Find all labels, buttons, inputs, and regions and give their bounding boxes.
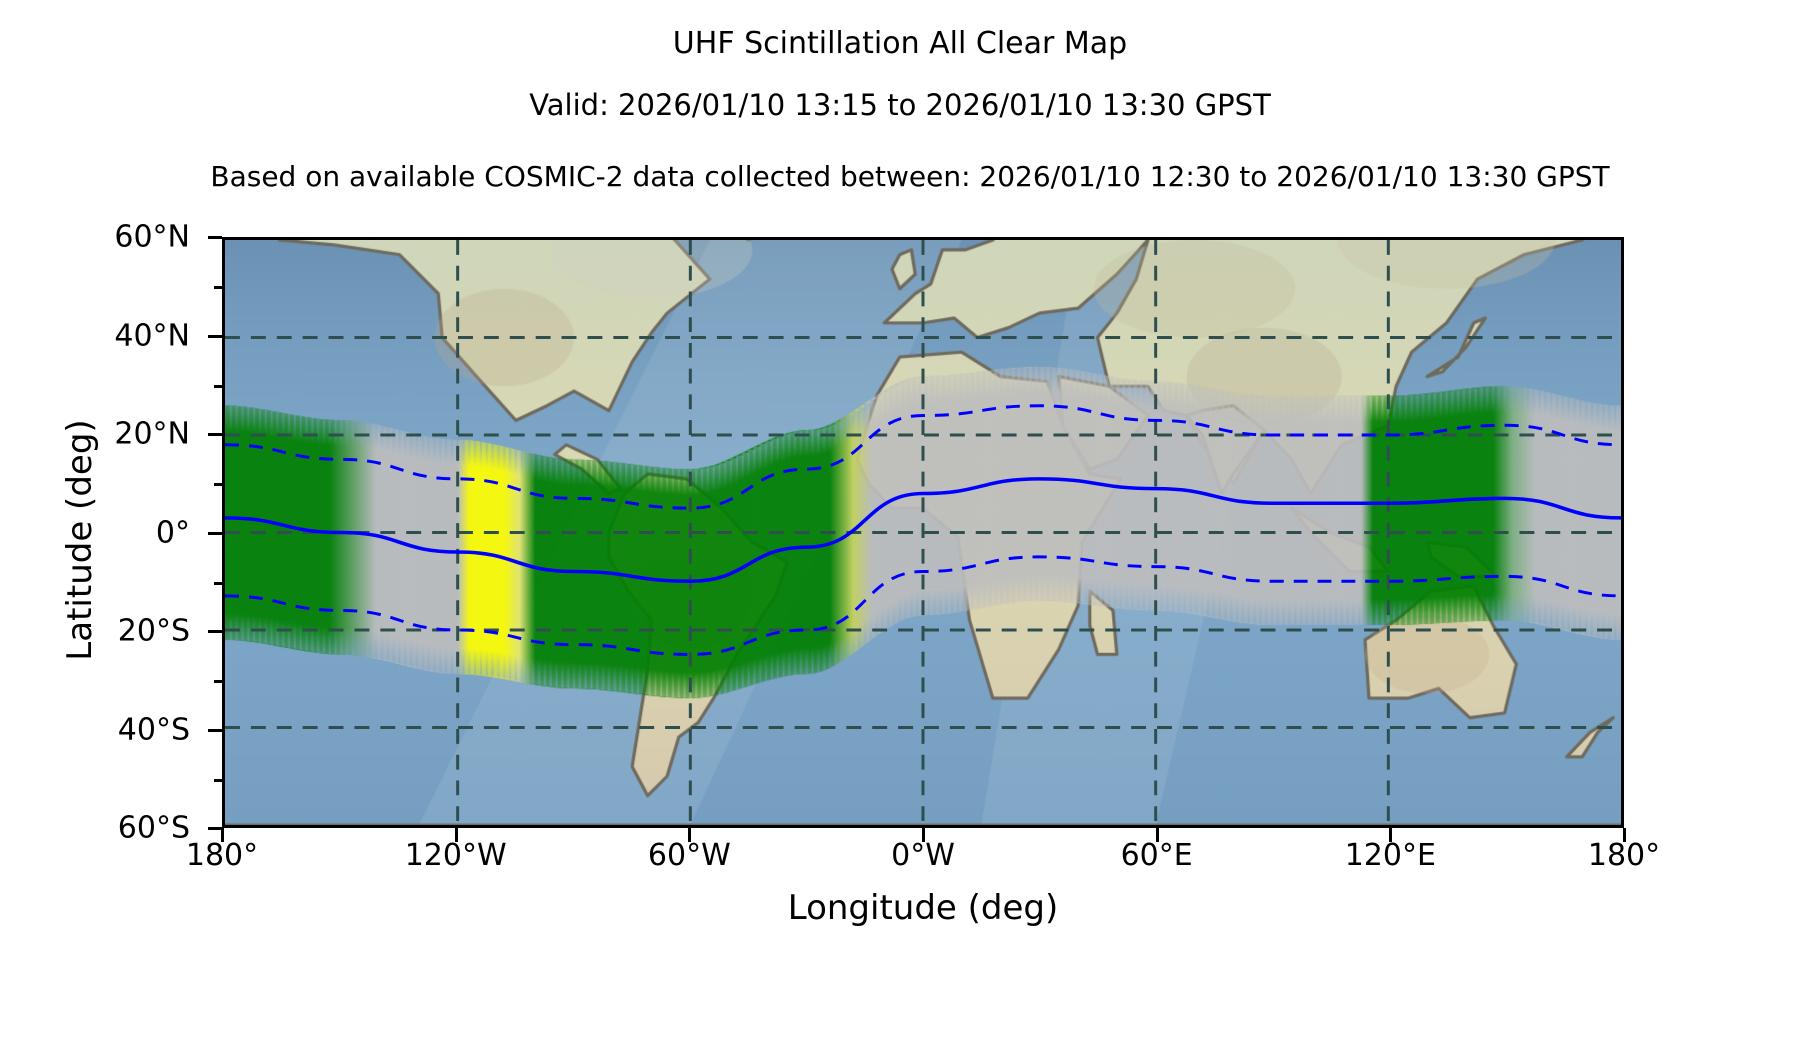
- x-tick-mark: [1623, 828, 1626, 842]
- x-tick-label: 120°W: [356, 838, 556, 873]
- x-tick-label: 180°: [1524, 838, 1724, 873]
- page-title: UHF Scintillation All Clear Map: [0, 26, 1800, 61]
- data-source-text: Based on available COSMIC-2 data collect…: [50, 160, 1770, 193]
- y-tick-label: 20°S: [20, 614, 190, 649]
- y-tick-mark-minor: [214, 483, 222, 486]
- x-tick-mark: [1389, 828, 1392, 842]
- y-tick-mark: [208, 335, 222, 338]
- y-tick-mark: [208, 433, 222, 436]
- x-tick-mark: [1156, 828, 1159, 842]
- x-tick-label: 120°E: [1290, 838, 1490, 873]
- y-tick-mark: [208, 729, 222, 732]
- y-tick-label: 20°N: [20, 417, 190, 452]
- y-tick-mark-minor: [214, 582, 222, 585]
- x-tick-mark: [922, 828, 925, 842]
- x-tick-mark: [221, 828, 224, 842]
- y-tick-mark: [208, 532, 222, 535]
- y-tick-label: 0°: [20, 515, 190, 550]
- x-tick-label: 60°E: [1057, 838, 1257, 873]
- y-tick-mark: [208, 630, 222, 633]
- y-tick-mark-minor: [214, 385, 222, 388]
- y-tick-label: 60°N: [20, 220, 190, 255]
- x-tick-mark: [455, 828, 458, 842]
- y-tick-mark-minor: [214, 680, 222, 683]
- y-tick-mark: [208, 236, 222, 239]
- y-tick-label: 40°N: [20, 318, 190, 353]
- x-tick-mark: [688, 828, 691, 842]
- x-tick-label: 180°: [122, 838, 322, 873]
- y-tick-mark-minor: [214, 286, 222, 289]
- x-tick-label: 0°W: [823, 838, 1023, 873]
- scintillation-map-plot[interactable]: Probably Clear > 95% Probability Clear P…: [222, 237, 1624, 828]
- y-tick-label: 40°S: [20, 712, 190, 747]
- magnetic-equator-lines: [225, 240, 1621, 825]
- y-tick-mark: [208, 827, 222, 830]
- y-tick-mark-minor: [214, 779, 222, 782]
- x-axis-label: Longitude (deg): [222, 888, 1624, 928]
- x-tick-label: 60°W: [589, 838, 789, 873]
- validity-period-text: Valid: 2026/01/10 13:15 to 2026/01/10 13…: [0, 88, 1800, 122]
